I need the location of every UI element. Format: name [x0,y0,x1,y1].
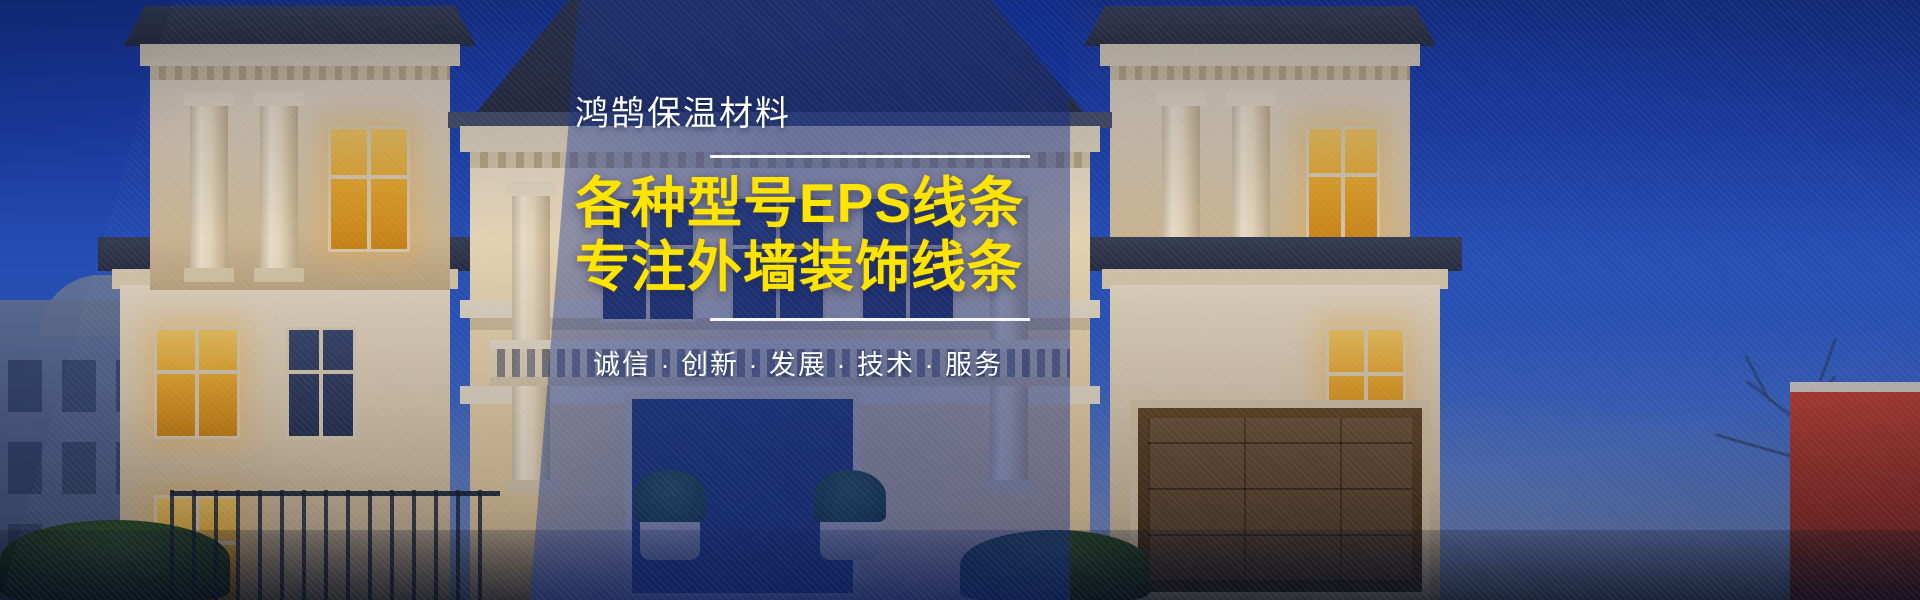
promo-banner: 鸿鹄保温材料 各种型号EPS线条 专注外墙装饰线条 诚信 · 创新 · 发展 ·… [0,0,1920,600]
headline-line-1: 各种型号EPS线条 [575,172,1045,236]
divider-bottom [710,318,1030,321]
headline-line-2: 专注外墙装饰线条 [575,236,1045,300]
banner-content: 鸿鹄保温材料 各种型号EPS线条 专注外墙装饰线条 诚信 · 创新 · 发展 ·… [575,96,1045,382]
brand-name: 鸿鹄保温材料 [575,96,1045,133]
divider-top [710,155,1030,158]
tagline: 诚信 · 创新 · 发展 · 技术 · 服务 [593,343,1045,382]
